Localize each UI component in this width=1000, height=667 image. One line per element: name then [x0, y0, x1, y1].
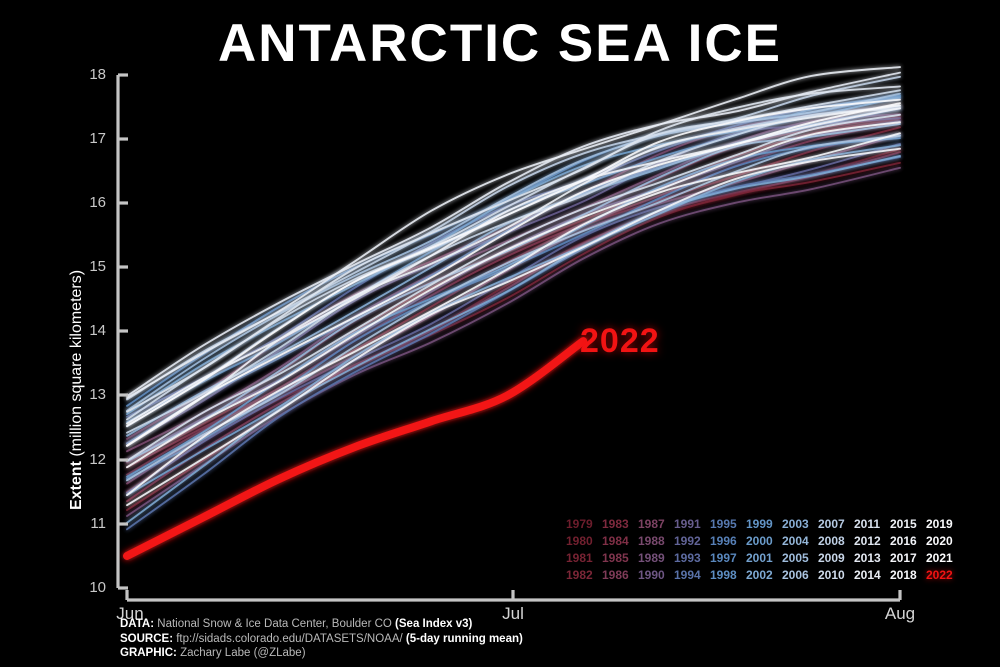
legend-year-1982[interactable]: 1982: [566, 567, 600, 584]
y-tick-label-10: 10: [72, 579, 106, 596]
legend-year-1996[interactable]: 1996: [710, 533, 744, 550]
legend-year-2006[interactable]: 2006: [782, 567, 816, 584]
legend-year-2012[interactable]: 2012: [854, 533, 888, 550]
legend-year-1999[interactable]: 1999: [746, 516, 780, 533]
legend-year-1990[interactable]: 1990: [638, 567, 672, 584]
y-tick-label-14: 14: [72, 322, 106, 339]
y-axis-label-wrap: Extent (million square kilometers): [44, 150, 74, 510]
caption: DATA: National Snow & Ice Data Center, B…: [120, 617, 523, 661]
legend-year-1987[interactable]: 1987: [638, 516, 672, 533]
series-lines: [127, 67, 900, 556]
legend-year-1991[interactable]: 1991: [674, 516, 708, 533]
legend-year-1992[interactable]: 1992: [674, 533, 708, 550]
caption-data-text: National Snow & Ice Data Center, Boulder…: [154, 618, 395, 630]
caption-data-version: (Sea Index v3): [395, 618, 472, 630]
legend-year-1985[interactable]: 1985: [602, 550, 636, 567]
y-tick-label-12: 12: [72, 451, 106, 468]
series-line-1979: [127, 149, 900, 492]
legend-year-2007[interactable]: 2007: [818, 516, 852, 533]
legend-year-2000[interactable]: 2000: [746, 533, 780, 550]
legend-year-2004[interactable]: 2004: [782, 533, 816, 550]
caption-source-label: SOURCE:: [120, 633, 173, 645]
legend-year-2015[interactable]: 2015: [890, 516, 924, 533]
series-line-2017: [127, 149, 900, 505]
current-year-annotation: 2022: [580, 322, 660, 361]
legend-year-2005[interactable]: 2005: [782, 550, 816, 567]
series-line-1999: [127, 138, 900, 477]
series-line-2018: [127, 133, 900, 495]
legend-year-2018[interactable]: 2018: [890, 567, 924, 584]
legend-year-2001[interactable]: 2001: [746, 550, 780, 567]
legend-year-2008[interactable]: 2008: [818, 533, 852, 550]
legend-year-1993[interactable]: 1993: [674, 550, 708, 567]
legend-year-1984[interactable]: 1984: [602, 533, 636, 550]
legend-year-2022[interactable]: 2022: [926, 567, 960, 584]
caption-graphic-label: GRAPHIC:: [120, 647, 177, 659]
legend-year-1989[interactable]: 1989: [638, 550, 672, 567]
series-line-1981: [127, 163, 900, 510]
legend-year-2002[interactable]: 2002: [746, 567, 780, 584]
legend-year-2014[interactable]: 2014: [854, 567, 888, 584]
series-line-2003: [127, 108, 900, 436]
legend-year-2017[interactable]: 2017: [890, 550, 924, 567]
legend-year-2021[interactable]: 2021: [926, 550, 960, 567]
series-line-2009: [127, 109, 900, 433]
legend-year-2019[interactable]: 2019: [926, 516, 960, 533]
y-axis-label-unit: (million square kilometers): [68, 270, 85, 461]
legend-year-1980[interactable]: 1980: [566, 533, 600, 550]
legend-year-2010[interactable]: 2010: [818, 567, 852, 584]
caption-data-label: DATA:: [120, 618, 154, 630]
caption-graphic-text: Zachary Labe (@ZLabe): [177, 647, 306, 659]
y-axis-label-bold: Extent: [68, 461, 85, 510]
caption-data-line: DATA: National Snow & Ice Data Center, B…: [120, 617, 523, 632]
legend-year-1997[interactable]: 1997: [710, 550, 744, 567]
x-tick-label-aug: Aug: [860, 604, 940, 624]
y-tick-label-15: 15: [72, 258, 106, 275]
legend-year-1995[interactable]: 1995: [710, 516, 744, 533]
caption-source-url: ftp://sidads.colorado.edu/DATASETS/NOAA/: [173, 633, 406, 645]
legend-year-2003[interactable]: 2003: [782, 516, 816, 533]
legend-year-2013[interactable]: 2013: [854, 550, 888, 567]
series-line-2002: [127, 156, 900, 523]
legend: 1979198319871991199519992003200720112015…: [566, 516, 960, 584]
y-tick-label-16: 16: [72, 194, 106, 211]
legend-year-1986[interactable]: 1986: [602, 567, 636, 584]
y-tick-label-17: 17: [72, 130, 106, 147]
legend-year-1979[interactable]: 1979: [566, 516, 600, 533]
chart-canvas: ANTARCTIC SEA ICE: [0, 0, 1000, 667]
legend-year-1981[interactable]: 1981: [566, 550, 600, 567]
y-tick-label-11: 11: [72, 515, 106, 532]
caption-source-line: SOURCE: ftp://sidads.colorado.edu/DATASE…: [120, 632, 523, 647]
caption-graphic-line: GRAPHIC: Zachary Labe (@ZLabe): [120, 646, 523, 661]
legend-year-2009[interactable]: 2009: [818, 550, 852, 567]
legend-year-1998[interactable]: 1998: [710, 567, 744, 584]
caption-source-note: (5-day running mean): [406, 633, 523, 645]
legend-year-1988[interactable]: 1988: [638, 533, 672, 550]
legend-year-1983[interactable]: 1983: [602, 516, 636, 533]
y-tick-label-13: 13: [72, 386, 106, 403]
legend-year-1994[interactable]: 1994: [674, 567, 708, 584]
legend-year-2016[interactable]: 2016: [890, 533, 924, 550]
legend-year-2020[interactable]: 2020: [926, 533, 960, 550]
y-tick-label-18: 18: [72, 66, 106, 83]
legend-year-2011[interactable]: 2011: [854, 516, 888, 533]
series-line-1993: [127, 98, 900, 416]
